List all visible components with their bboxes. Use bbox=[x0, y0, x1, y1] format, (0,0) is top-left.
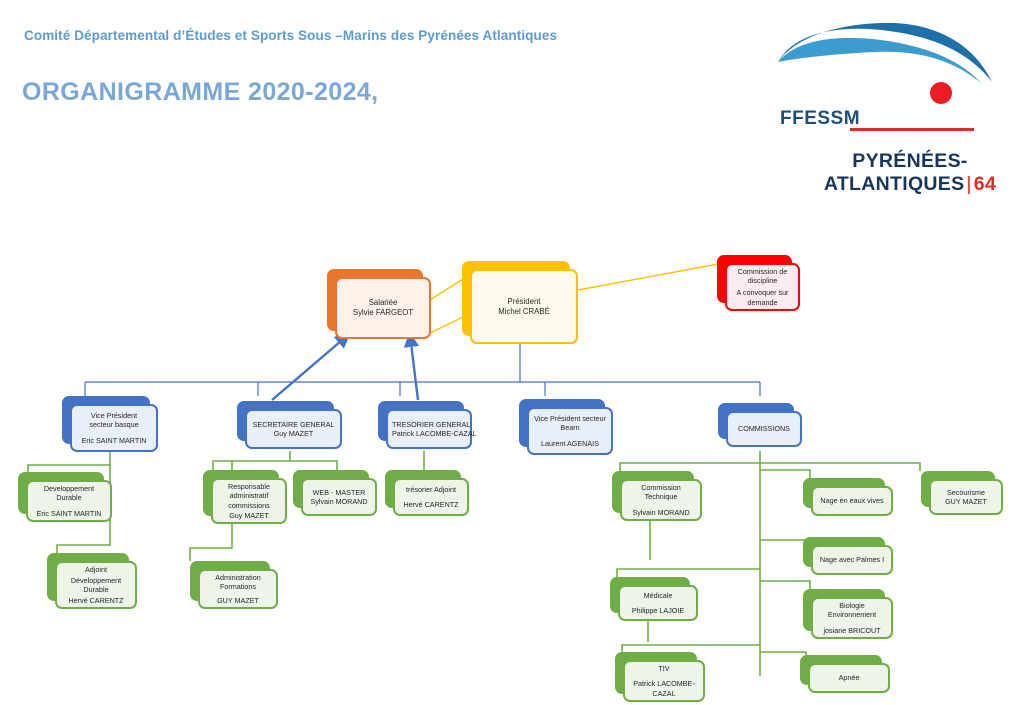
node-face: Nage en eaux vives bbox=[811, 486, 893, 516]
node-apnee[interactable]: Apnée bbox=[800, 655, 882, 685]
node-tiv[interactable]: TIV Patrick LACOMBE- CAZAL bbox=[615, 652, 697, 694]
node-line: Environnement bbox=[817, 610, 887, 619]
node-tresorier-general[interactable]: TRESORIER GENERAL Patrick LACOMBE-CAZAL bbox=[378, 401, 464, 441]
node-president[interactable]: Président Michel CRABÉ bbox=[462, 261, 570, 336]
node-face: Salariée Sylvie FARGEOT bbox=[335, 277, 431, 339]
node-web-master[interactable]: WEB - MASTER Sylvain MORAND bbox=[293, 470, 369, 508]
node-tresorier-adjoint[interactable]: trésorier Adjoint Hervé CARENTZ bbox=[385, 470, 461, 508]
node-line: Sylvie FARGEOT bbox=[341, 308, 425, 318]
node-face: TRESORIER GENERAL Patrick LACOMBE-CAZAL bbox=[386, 409, 472, 449]
node-line: Hervé CARENTZ bbox=[61, 596, 131, 605]
node-line: Nage en eaux vives bbox=[817, 496, 887, 505]
node-face: Vice Président secteur Bearn Laurent AGE… bbox=[527, 407, 613, 455]
node-face: Secourisme GUY MAZET bbox=[929, 479, 1003, 515]
node-face: Developpement Durable Eric SAINT MARTIN bbox=[26, 480, 112, 522]
node-line: Adjoint bbox=[61, 565, 131, 574]
node-line: Salariée bbox=[341, 298, 425, 308]
node-face: COMMISSIONS bbox=[726, 411, 802, 447]
node-line: administratif bbox=[217, 491, 281, 500]
node-face: Apnée bbox=[808, 663, 890, 693]
node-line: Laurent AGENAIS bbox=[533, 439, 607, 448]
node-line: commissions bbox=[217, 501, 281, 510]
node-vice-president-bearn[interactable]: Vice Président secteur Bearn Laurent AGE… bbox=[519, 399, 605, 447]
node-line: Michel CRABÉ bbox=[476, 307, 572, 317]
node-line: SECRETAIRE GENERAL bbox=[251, 420, 336, 429]
node-secretaire-general[interactable]: SECRETAIRE GENERAL Guy MAZET bbox=[237, 401, 334, 441]
node-line: CAZAL bbox=[629, 689, 699, 698]
node-line: Guy MAZET bbox=[217, 511, 281, 520]
node-face: Vice Président secteur basque Eric SAINT… bbox=[70, 404, 158, 452]
node-medicale[interactable]: Médicale Philippe LAJOIE bbox=[610, 577, 690, 613]
node-line: Patrick LACOMBE- bbox=[629, 679, 699, 688]
node-face: Biologie Environnement josiane BRICOUT bbox=[811, 597, 893, 639]
node-line: Commission de bbox=[731, 267, 794, 276]
node-face: Nage avec Palmes I bbox=[811, 545, 893, 575]
node-line: GUY MAZET bbox=[204, 596, 272, 605]
node-nage-avec-palmes[interactable]: Nage avec Palmes I bbox=[803, 537, 885, 567]
node-commission-discipline[interactable]: Commission de discipline A convoquer sur… bbox=[717, 255, 792, 303]
node-line: Developpement bbox=[32, 484, 106, 493]
node-line: TIV bbox=[629, 664, 699, 673]
node-face: Administration Formations GUY MAZET bbox=[198, 569, 278, 609]
node-face: Commission Technique Sylvain MORAND bbox=[620, 479, 702, 521]
node-line: Vice Président bbox=[76, 411, 152, 420]
node-line: Apnée bbox=[814, 673, 884, 682]
node-line: Nage avec Palmes I bbox=[817, 555, 887, 564]
node-line: Eric SAINT MARTIN bbox=[76, 436, 152, 445]
node-line: Formations bbox=[204, 582, 272, 591]
node-administration-formations[interactable]: Administration Formations GUY MAZET bbox=[190, 561, 270, 601]
node-line: trésorier Adjoint bbox=[399, 485, 463, 494]
node-nage-en-eaux-vives[interactable]: Nage en eaux vives bbox=[803, 478, 885, 508]
node-line: Durable bbox=[61, 585, 131, 594]
node-developpement-durable[interactable]: Developpement Durable Eric SAINT MARTIN bbox=[18, 472, 104, 514]
node-line: Hervé CARENTZ bbox=[399, 500, 463, 509]
node-line: Technique bbox=[626, 492, 696, 501]
node-line: Secourisme bbox=[935, 488, 997, 497]
node-face: TIV Patrick LACOMBE- CAZAL bbox=[623, 660, 705, 702]
node-commissions[interactable]: COMMISSIONS bbox=[718, 403, 794, 439]
node-line: Guy MAZET bbox=[251, 429, 336, 438]
node-line: Patrick LACOMBE-CAZAL bbox=[392, 429, 466, 438]
node-line: GUY MAZET bbox=[935, 497, 997, 506]
node-line: Durable bbox=[32, 493, 106, 502]
node-line: TRESORIER GENERAL bbox=[392, 420, 466, 429]
node-line: Développement bbox=[61, 576, 131, 585]
node-secourisme[interactable]: Secourisme GUY MAZET bbox=[921, 471, 995, 507]
node-line: Sylvain MORAND bbox=[307, 497, 371, 506]
node-face: Président Michel CRABÉ bbox=[470, 269, 578, 344]
node-line: Biologie bbox=[817, 601, 887, 610]
node-line: Philippe LAJOIE bbox=[624, 606, 692, 615]
node-commission-technique[interactable]: Commission Technique Sylvain MORAND bbox=[612, 471, 694, 513]
node-face: WEB - MASTER Sylvain MORAND bbox=[301, 478, 377, 516]
node-line: Commission bbox=[626, 483, 696, 492]
node-vice-president-basque[interactable]: Vice Président secteur basque Eric SAINT… bbox=[62, 396, 150, 444]
node-line: discipline bbox=[731, 276, 794, 285]
node-line: josiane BRICOUT bbox=[817, 626, 887, 635]
node-responsable-administratif[interactable]: Responsable administratif commissions Gu… bbox=[203, 470, 279, 516]
node-biologie-environnement[interactable]: Biologie Environnement josiane BRICOUT bbox=[803, 589, 885, 631]
node-line: Médicale bbox=[624, 591, 692, 600]
node-line: WEB - MASTER bbox=[307, 488, 371, 497]
node-line: Président bbox=[476, 297, 572, 307]
node-face: SECRETAIRE GENERAL Guy MAZET bbox=[245, 409, 342, 449]
node-face: Commission de discipline A convoquer sur… bbox=[725, 263, 800, 311]
node-line: COMMISSIONS bbox=[732, 424, 796, 433]
node-line: Sylvain MORAND bbox=[626, 508, 696, 517]
node-face: trésorier Adjoint Hervé CARENTZ bbox=[393, 478, 469, 516]
node-line: demande bbox=[731, 298, 794, 307]
node-adjoint-developpement-durable[interactable]: Adjoint Développement Durable Hervé CARE… bbox=[47, 553, 129, 601]
node-line: Vice Président secteur bbox=[533, 414, 607, 423]
node-line: Bearn bbox=[533, 423, 607, 432]
node-line: Eric SAINT MARTIN bbox=[32, 509, 106, 518]
node-line: A convoquer sur bbox=[731, 288, 794, 297]
node-face: Adjoint Développement Durable Hervé CARE… bbox=[55, 561, 137, 609]
node-face: Médicale Philippe LAJOIE bbox=[618, 585, 698, 621]
node-face: Responsable administratif commissions Gu… bbox=[211, 478, 287, 524]
node-salariee[interactable]: Salariée Sylvie FARGEOT bbox=[327, 269, 423, 331]
node-line: Responsable bbox=[217, 482, 281, 491]
organigramme: Salariée Sylvie FARGEOT Président Michel… bbox=[0, 0, 1024, 705]
node-line: Administration bbox=[204, 573, 272, 582]
node-line: secteur basque bbox=[76, 420, 152, 429]
